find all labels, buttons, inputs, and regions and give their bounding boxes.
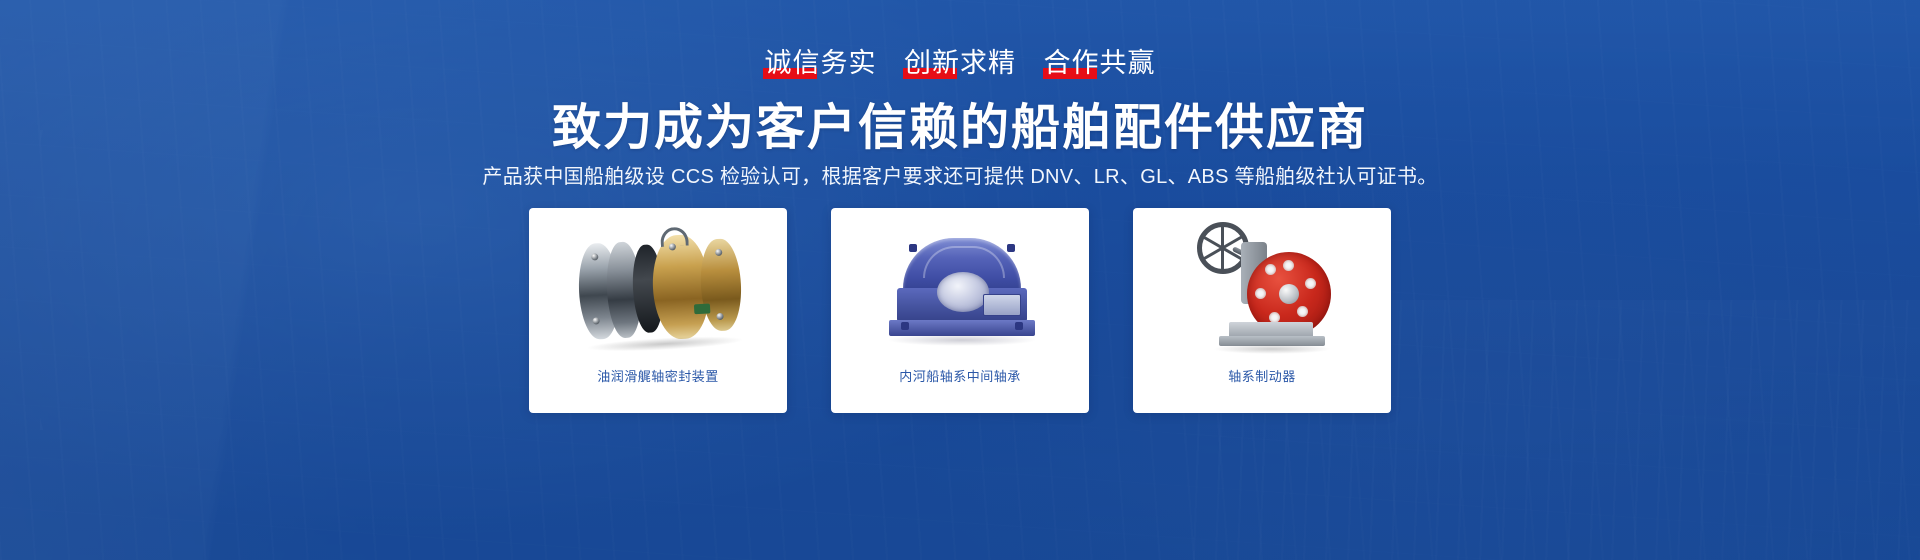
banner-tagline: 诚信务实 创新求精 合作共赢 [0,50,1920,77]
product-card-2[interactable]: 内河船轴系中间轴承 [831,208,1089,413]
product-card-1-caption: 油润滑艉轴密封装置 [597,370,719,383]
banner-subline: 产品获中国船舶级设 CCS 检验认可，根据客户要求还可提供 DNV、LR、GL、… [0,163,1920,191]
banner-headline: 致力成为客户信赖的船舶配件供应商 [0,100,1920,158]
stern-tube-seal-illustration [574,230,747,347]
banner-content: 诚信务实 创新求精 合作共赢 致力成为客户信赖的船舶配件供应商 产品获中国船舶级… [0,0,1920,560]
tagline-segment-3-text: 合作共赢 [1044,48,1156,78]
tagline-segment-1-text: 诚信务实 [764,48,876,78]
hero-banner: 诚信务实 创新求精 合作共赢 致力成为客户信赖的船舶配件供应商 产品获中国船舶级… [0,0,1920,560]
product-card-3-caption: 轴系制动器 [1228,370,1296,383]
tagline-segment-2: 创新求精 [903,50,1017,77]
product-card-1[interactable]: 油润滑艉轴密封装置 [529,208,787,413]
shaft-bearing-illustration [887,232,1037,344]
tagline-segment-2-text: 创新求精 [904,48,1016,78]
product-card-3[interactable]: 轴系制动器 [1133,208,1391,413]
product-card-2-caption: 内河船轴系中间轴承 [899,370,1021,383]
tagline-segment-1: 诚信务实 [763,50,877,77]
intermediate-shaft-bearing-photo [831,208,1089,366]
shaft-brake-illustration [1185,222,1345,352]
shaft-brake-photo [1133,208,1391,366]
product-card-list: 油润滑艉轴密封装置 [0,208,1920,413]
tagline-segment-3: 合作共赢 [1043,50,1157,77]
stern-tube-seal-photo [529,208,787,366]
